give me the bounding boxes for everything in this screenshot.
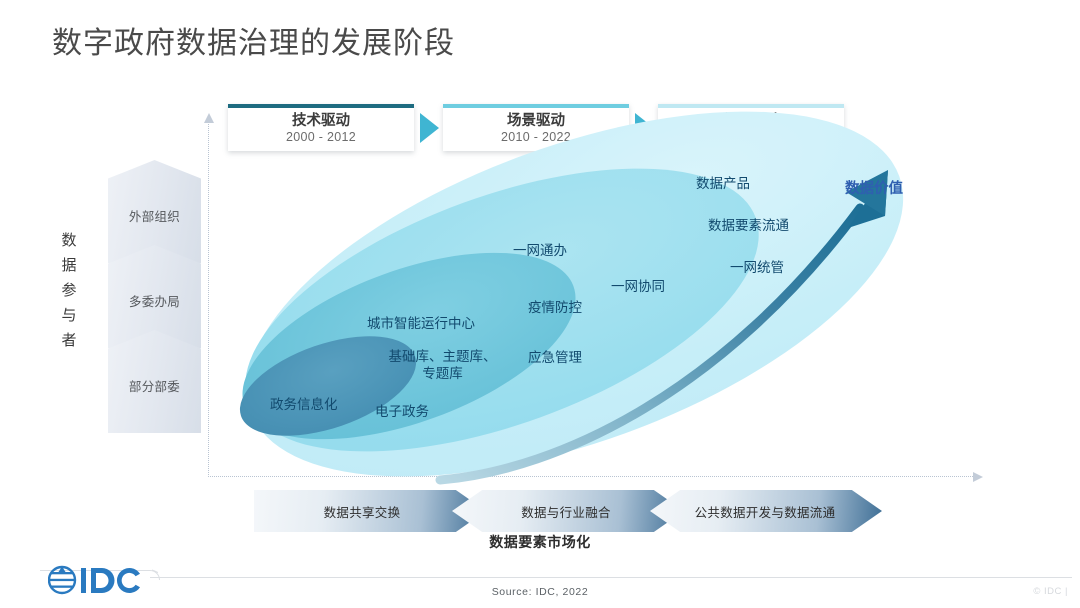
market-stage-data-sharing[interactable]: 数据共享交换 <box>254 490 486 532</box>
market-stage-label: 数据共享交换 <box>324 502 401 521</box>
node-label-epidemic-control: 疫情防控 <box>528 299 582 316</box>
growth-arrow-label: 数据价值 <box>845 177 903 198</box>
node-label-one-net-service: 一网通办 <box>513 242 567 259</box>
footer-divider <box>150 577 1072 578</box>
phase-top-bar <box>658 104 844 108</box>
page-title: 数字政府数据治理的发展阶段 <box>52 18 455 62</box>
node-label-one-net-collaboration: 一网协同 <box>611 278 665 295</box>
node-label-one-net-governance: 一网统管 <box>730 259 784 276</box>
y-axis-label: 数据参与者 <box>56 228 82 353</box>
participant-label: 外部组织 <box>129 206 180 225</box>
phase-name: 技术驱动 <box>292 113 350 130</box>
market-stage-label: 公共数据开发与数据流通 <box>695 502 836 521</box>
market-stage-public-data-development[interactable]: 公共数据开发与数据流通 <box>650 490 882 532</box>
node-label-city-intelligent-ops-center: 城市智能运行中心 <box>367 315 475 332</box>
node-label-government-informatization: 政务信息化 <box>270 396 338 413</box>
node-label-emergency-management: 应急管理 <box>528 349 582 366</box>
participant-label: 多委办局 <box>129 291 180 310</box>
node-label-data-element-circulation: 数据要素流通 <box>708 217 789 234</box>
slide-canvas: 数字政府数据治理的发展阶段 技术驱动 2000 - 2012 场景驱动 2010… <box>0 0 1080 608</box>
copyright-note: © IDC | <box>1033 586 1068 597</box>
market-stage-industry-integration[interactable]: 数据与行业融合 <box>452 490 684 532</box>
node-label-e-government: 电子政务 <box>375 403 429 420</box>
market-stage-label: 数据与行业融合 <box>521 502 611 521</box>
participant-label: 部分部委 <box>129 376 180 395</box>
y-axis-arrow-icon <box>204 113 214 123</box>
participant-chevron-some-ministries: 部分部委 <box>108 330 201 433</box>
phase-top-bar <box>228 104 414 108</box>
node-label-data-products: 数据产品 <box>696 175 750 192</box>
growth-curve-arrow-icon <box>430 150 930 490</box>
market-stage-bar-title: 数据要素市场化 <box>0 532 1080 552</box>
market-stage-bar: 数据共享交换 数据与行业融合 公共数据开发与数据流通 <box>254 490 856 532</box>
phase-connector-arrow-icon <box>420 113 439 143</box>
node-label-databases: 基础库、主题库、专题库 <box>385 348 500 382</box>
source-note: Source: IDC, 2022 <box>0 586 1080 598</box>
phase-top-bar <box>443 104 629 108</box>
phase-name: 场景驱动 <box>507 113 565 130</box>
